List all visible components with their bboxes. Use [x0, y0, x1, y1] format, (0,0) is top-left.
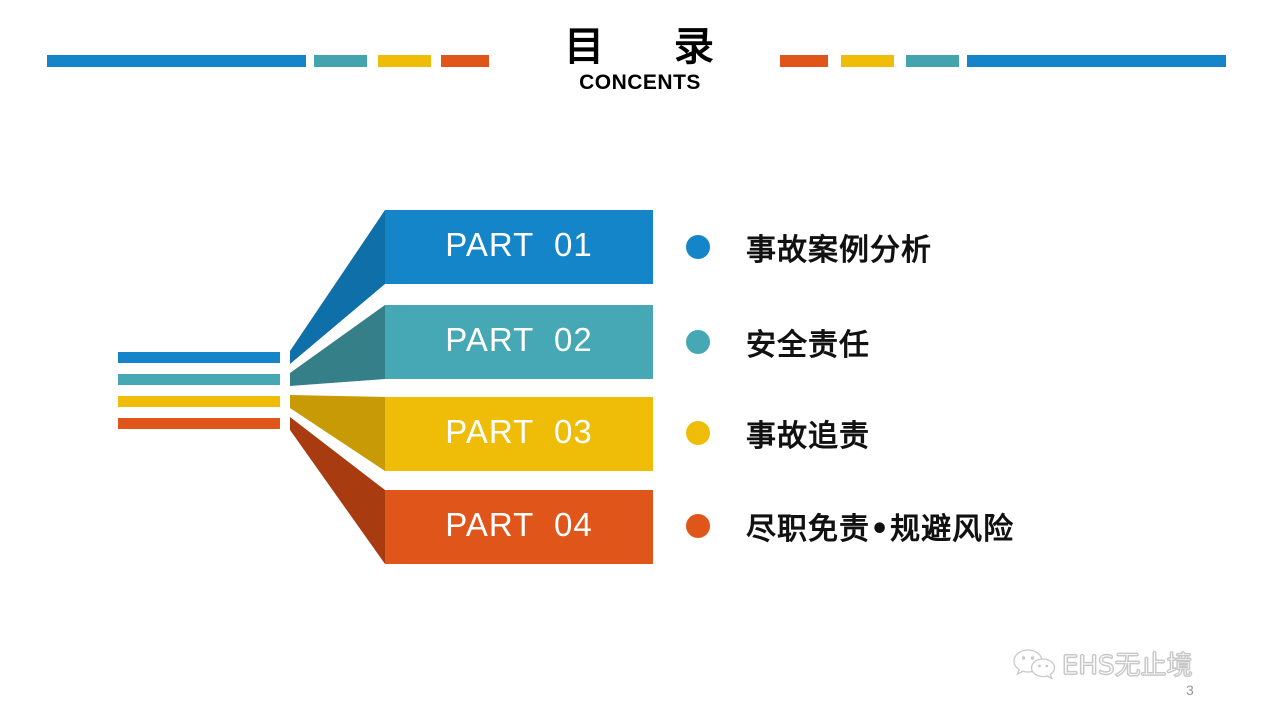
agenda-item-part-02[interactable]: 安全责任 — [686, 322, 870, 362]
part-01-wedge — [290, 210, 385, 364]
part-02-stripe — [118, 374, 280, 385]
agenda-item-label: 事故追责 — [746, 411, 870, 455]
slide-title-block: 目 录 CONCENTS — [440, 24, 840, 95]
part-01-stripe — [118, 352, 280, 363]
slide-canvas: 目 录 CONCENTS PART 01PART 02PART 03PART 0… — [0, 0, 1280, 720]
agenda-item-part-01[interactable]: 事故案例分析 — [686, 227, 932, 267]
part-03-wedge — [290, 395, 385, 471]
part-03-label[interactable]: PART 03 — [385, 413, 653, 451]
agenda-item-label: 安全责任 — [746, 320, 870, 364]
agenda-item-part-03[interactable]: 事故追责 — [686, 413, 870, 453]
agenda-item-part-04[interactable]: 尽职免责•规避风险 — [686, 506, 1014, 546]
part-04-wedge — [290, 417, 385, 564]
watermark-label: EHS无止境 — [1062, 645, 1192, 682]
part-02-label[interactable]: PART 02 — [385, 321, 653, 359]
header-right-bar-yellow — [841, 55, 894, 67]
bullet-dot-icon — [686, 330, 710, 354]
bullet-dot-icon — [686, 235, 710, 259]
header-right-bar-blue-long — [967, 55, 1226, 67]
footer-watermark: EHS无止境 — [1012, 645, 1192, 682]
part-01-label[interactable]: PART 01 — [385, 226, 653, 264]
bullet-dot-icon — [686, 514, 710, 538]
header-right-bar-teal — [906, 55, 959, 67]
agenda-item-label: 尽职免责•规避风险 — [746, 504, 1014, 548]
page-title: 目 录 — [452, 24, 840, 70]
page-number: 3 — [1186, 682, 1194, 698]
wechat-icon — [1012, 647, 1058, 681]
page-subtitle: CONCENTS — [440, 71, 840, 95]
header-left-bar-yellow — [378, 55, 431, 67]
part-04-stripe — [118, 418, 280, 429]
agenda-diagram — [0, 0, 1280, 720]
part-04-label[interactable]: PART 04 — [385, 506, 653, 544]
header-left-bar-blue-long — [47, 55, 306, 67]
part-02-wedge — [290, 305, 385, 386]
header-left-bar-teal — [314, 55, 367, 67]
part-03-stripe — [118, 396, 280, 407]
agenda-item-label: 事故案例分析 — [746, 225, 932, 269]
bullet-dot-icon — [686, 421, 710, 445]
